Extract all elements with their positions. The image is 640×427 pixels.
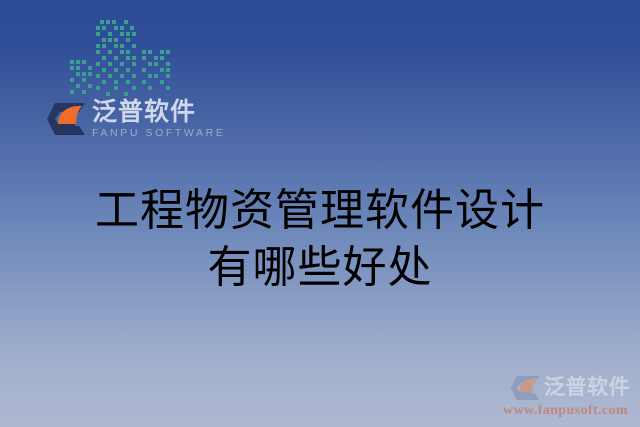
banner-headline: 工程物资管理软件设计 有哪些好处 xyxy=(0,182,640,296)
watermark-name-cn: 泛普软件 xyxy=(544,376,630,400)
fanpu-emblem-icon xyxy=(46,102,86,136)
promo-banner: 泛普软件 FANPU SOFTWARE 工程物资管理软件设计 有哪些好处 泛普软… xyxy=(0,0,640,427)
watermark-url: www.fanpusoft.com xyxy=(480,402,630,419)
pixel-city-skyline-icon xyxy=(70,14,175,96)
logo-name-en: FANPU SOFTWARE xyxy=(92,127,225,140)
headline-line-2: 有哪些好处 xyxy=(0,239,640,296)
headline-line-1: 工程物资管理软件设计 xyxy=(0,182,640,239)
watermark-logo: 泛普软件 xyxy=(480,375,630,401)
fanpu-logo: 泛普软件 FANPU SOFTWARE xyxy=(46,99,225,140)
fanpu-emblem-icon xyxy=(510,375,540,401)
fanpu-wordmark: 泛普软件 FANPU SOFTWARE xyxy=(92,99,225,140)
site-watermark: 泛普软件 www.fanpusoft.com xyxy=(480,375,630,419)
logo-name-cn: 泛普软件 xyxy=(92,99,225,125)
